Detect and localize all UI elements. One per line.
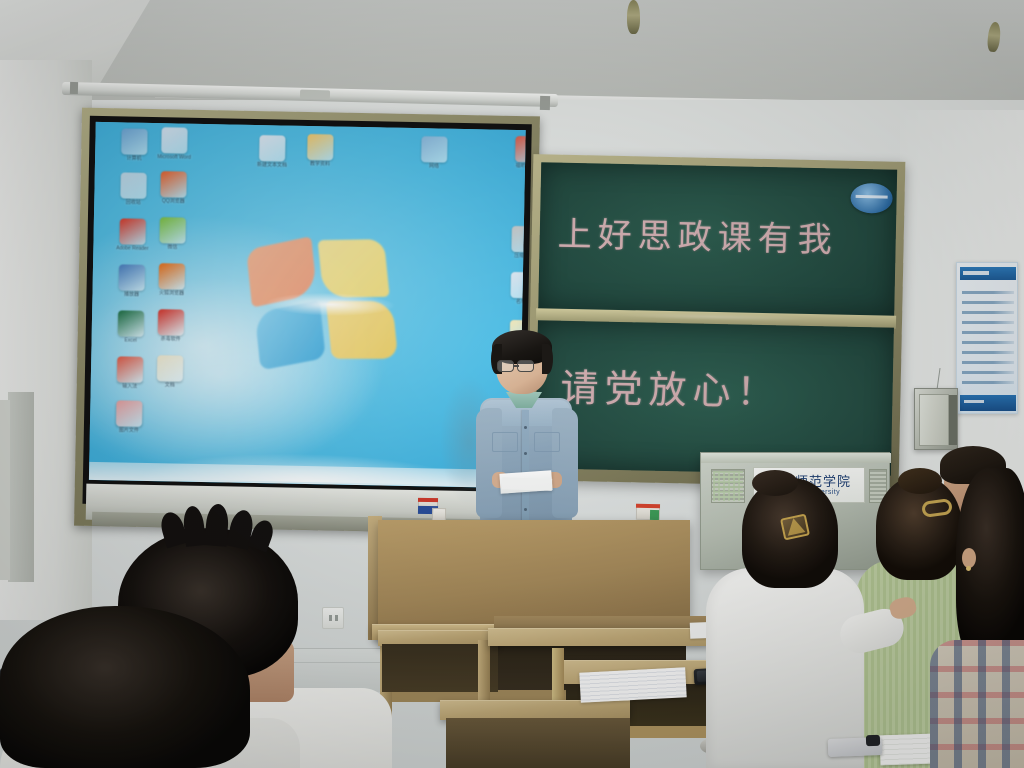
desktop-icon-label: 网络 bbox=[407, 164, 461, 171]
electrical-box-vent bbox=[949, 395, 957, 445]
desktop-icon-label: 微信 bbox=[145, 245, 199, 252]
document-icon[interactable]: 文档 bbox=[143, 355, 198, 390]
qq-browser-icon bbox=[160, 171, 186, 197]
desktop-icon-label: 新建文本文档 bbox=[245, 163, 299, 170]
poster-footer-bar bbox=[960, 395, 1016, 411]
shirt-pocket-right bbox=[534, 432, 560, 452]
network-icon[interactable]: 网络 bbox=[407, 136, 462, 171]
chalk-box-top-stripe bbox=[636, 504, 660, 508]
blue-information-poster bbox=[956, 262, 1018, 414]
presenter-right-arm bbox=[552, 408, 578, 518]
glasses-icon bbox=[497, 360, 514, 372]
antivirus-icon[interactable]: 杀毒软件 bbox=[144, 309, 199, 344]
desktop-icon-label: 压缩文件 bbox=[497, 254, 525, 261]
desktop-icon-label: 火狐浏览器 bbox=[144, 291, 198, 298]
console-speaker-grille bbox=[713, 471, 743, 501]
media-player-icon bbox=[119, 264, 145, 290]
roller-bracket bbox=[540, 96, 550, 110]
desktop-icon-label: 教学资料 bbox=[293, 162, 347, 169]
student-right-ear bbox=[962, 548, 976, 568]
classroom-scene: 计算机Microsoft Word新建文本文档教学资料网络福昕阅读器回收站QQ浏… bbox=[0, 0, 1024, 768]
adobe-reader-icon bbox=[119, 218, 145, 244]
glasses-icon bbox=[517, 360, 534, 372]
antivirus-icon bbox=[158, 309, 184, 335]
word-document-icon bbox=[161, 127, 187, 153]
word-document-icon[interactable]: Microsoft Word bbox=[147, 127, 202, 162]
wall-power-outlet[interactable] bbox=[322, 607, 344, 629]
speech-papers-sheet bbox=[502, 477, 552, 491]
recycle-bin-icon bbox=[120, 172, 146, 198]
wechat-icon[interactable]: 微信 bbox=[145, 217, 200, 252]
firefox-icon[interactable]: 火狐浏览器 bbox=[144, 263, 199, 298]
student-plaid-shirt-body bbox=[930, 640, 1024, 768]
folder-icon[interactable]: 教学资料 bbox=[293, 134, 348, 169]
ceiling-fan-mount-icon bbox=[627, 0, 640, 34]
hair-bun bbox=[752, 470, 798, 496]
front-row-bench-face bbox=[446, 718, 630, 768]
presenter-hair-side bbox=[542, 344, 553, 374]
computer-icon bbox=[121, 128, 147, 154]
left-wall-edge bbox=[0, 400, 10, 580]
network-icon bbox=[421, 136, 447, 162]
earring-icon bbox=[966, 566, 971, 571]
qq-browser-icon[interactable]: QQ浏览器 bbox=[146, 171, 201, 206]
presenter-left-arm bbox=[476, 408, 502, 518]
chalk-box-green-band bbox=[650, 510, 659, 520]
glasses-bridge bbox=[514, 365, 519, 367]
wechat-icon bbox=[159, 217, 185, 243]
left-wall-pillar bbox=[8, 392, 34, 582]
blackboard-upper-panel: 上好思政课有我 bbox=[538, 162, 897, 317]
excel-icon bbox=[118, 310, 144, 336]
phone-camera-module bbox=[866, 735, 880, 746]
desktop-icon-label: 杀毒软件 bbox=[144, 337, 198, 344]
poster-header-bar bbox=[960, 267, 1016, 280]
student-presenter bbox=[466, 330, 586, 536]
text-file-icon[interactable]: 新建文本文档 bbox=[245, 135, 300, 170]
desktop-icon-label: Microsoft Word bbox=[147, 155, 201, 162]
roller-bracket bbox=[300, 90, 330, 100]
desktop-icon-label: 文档 bbox=[143, 383, 197, 390]
wall-electrical-box[interactable] bbox=[914, 388, 958, 450]
text-file-icon bbox=[259, 135, 285, 161]
pdf-reader-icon[interactable]: 福昕阅读器 bbox=[501, 136, 526, 171]
firefox-icon bbox=[159, 263, 185, 289]
image-file-icon bbox=[116, 400, 142, 426]
image-file-icon[interactable]: 图片文件 bbox=[102, 400, 157, 435]
folder-icon bbox=[307, 134, 333, 160]
blue-oval-sticker-icon bbox=[850, 183, 893, 214]
document-icon bbox=[157, 355, 183, 381]
input-method-icon bbox=[117, 356, 143, 382]
blackboard-slogan-line-2: 请党放心！ bbox=[560, 357, 781, 417]
pdf-reader-icon bbox=[515, 136, 526, 162]
desktop-icon-label: 福昕阅读器 bbox=[501, 164, 526, 171]
blackboard-slogan-line-1: 上好思政课有我 bbox=[557, 207, 838, 262]
student-foreground-left-long-hair bbox=[0, 606, 250, 768]
console-top-surface bbox=[701, 453, 891, 463]
electrical-box-door[interactable] bbox=[919, 394, 949, 446]
roller-bracket bbox=[70, 82, 78, 94]
desktop-icon-label: 图片文件 bbox=[102, 428, 156, 435]
archive-icon[interactable]: 压缩文件 bbox=[497, 226, 525, 261]
lined-paper-sheet[interactable] bbox=[579, 667, 686, 703]
shirt-pocket-left bbox=[492, 432, 518, 452]
list-file-icon[interactable]: 名单表 bbox=[496, 272, 525, 307]
front-row-bench-top bbox=[440, 700, 630, 720]
desktop-icon-label: QQ浏览器 bbox=[146, 199, 200, 206]
logo-sheen bbox=[244, 285, 417, 324]
hair-bun bbox=[898, 468, 942, 494]
desktop-icon-label: 名单表 bbox=[496, 300, 525, 307]
